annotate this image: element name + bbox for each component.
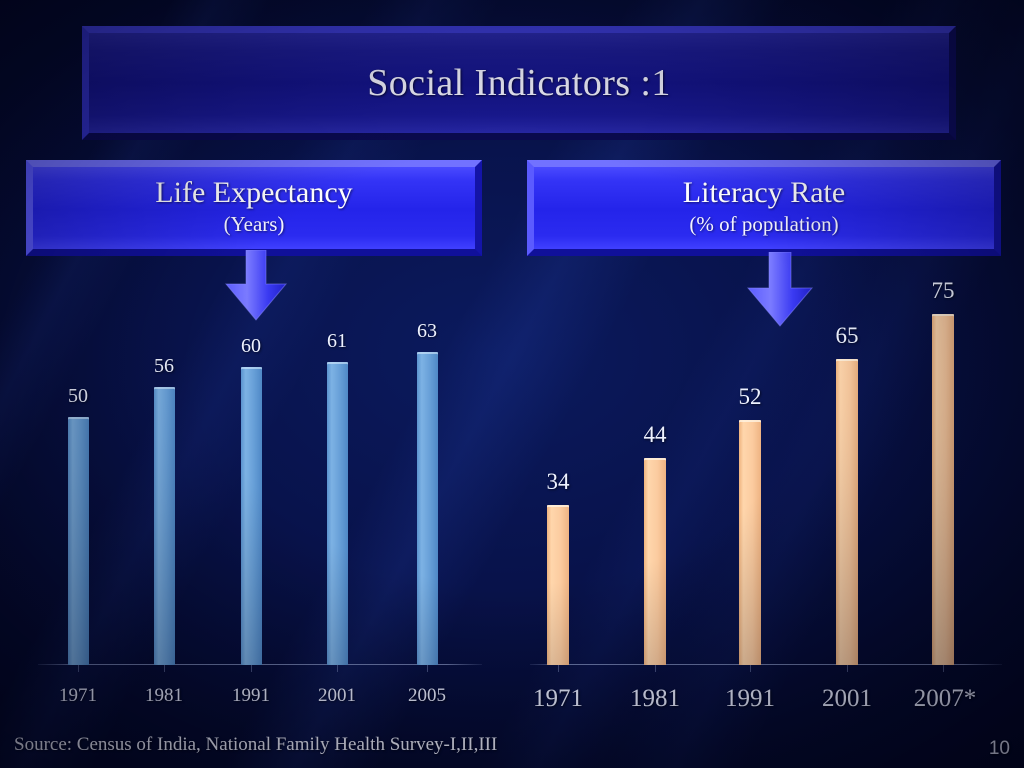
axis-tick [750, 665, 751, 672]
axis-tick [337, 665, 338, 672]
bar: 75 [932, 314, 954, 665]
source-note: Source: Census of India, National Family… [14, 734, 497, 756]
bar: 61 [327, 362, 348, 665]
bar: 34 [547, 505, 569, 665]
bar: 63 [417, 352, 438, 665]
bar-value-label: 65 [836, 323, 859, 349]
header-subtitle-left: (Years) [224, 212, 285, 237]
header-subtitle-right: (% of population) [689, 212, 838, 237]
page-number: 10 [989, 738, 1010, 760]
x-axis-label: 1981 [630, 685, 680, 713]
bar-value-label: 63 [417, 320, 437, 343]
bar: 44 [644, 458, 666, 665]
x-axis-label: 2005 [408, 685, 446, 707]
axis-tick [251, 665, 252, 672]
x-axis-label: 1971 [59, 685, 97, 707]
axis-tick [655, 665, 656, 672]
slide-canvas: Social Indicators :1 Life Expectancy (Ye… [0, 0, 1024, 768]
x-axis-label: 2001 [822, 685, 872, 713]
axis-tick [427, 665, 428, 672]
header-title-left: Life Expectancy [155, 177, 352, 208]
chart-life-expectancy: 50 56 60 61 [18, 300, 488, 730]
panel-header-life-expectancy: Life Expectancy (Years) [26, 160, 482, 256]
bar-value-label: 34 [547, 469, 570, 495]
axis-tick [78, 665, 79, 672]
bar-value-label: 60 [241, 335, 261, 358]
bar: 50 [68, 417, 89, 665]
bar-value-label: 52 [739, 384, 762, 410]
bar: 52 [739, 420, 761, 665]
plot-area-right: 34 44 52 65 [512, 292, 1012, 665]
slide-title-box: Social Indicators :1 [82, 26, 956, 140]
x-axis-label: 1981 [145, 685, 183, 707]
axis-tick [847, 665, 848, 672]
axis-tick [943, 665, 944, 672]
header-title-right: Literacy Rate [683, 177, 845, 208]
x-axis-label: 2001 [318, 685, 356, 707]
x-axis-label: 2007* [914, 685, 977, 713]
x-axis-label: 1991 [725, 685, 775, 713]
axis-tick [164, 665, 165, 672]
x-axis-label: 1971 [533, 685, 583, 713]
page-title: Social Indicators :1 [367, 61, 670, 105]
plot-area-left: 50 56 60 61 [18, 300, 488, 665]
x-axis-label: 1991 [232, 685, 270, 707]
bar: 56 [154, 387, 175, 665]
bar-value-label: 50 [68, 385, 88, 408]
panel-header-literacy-rate: Literacy Rate (% of population) [527, 160, 1001, 256]
bar-value-label: 61 [327, 330, 347, 353]
bar-value-label: 75 [932, 278, 955, 304]
bar: 60 [241, 367, 262, 665]
bar: 65 [836, 359, 858, 665]
bar-value-label: 44 [644, 422, 667, 448]
bar-value-label: 56 [154, 355, 174, 378]
axis-tick [558, 665, 559, 672]
chart-literacy-rate: 34 44 52 65 [512, 292, 1012, 740]
